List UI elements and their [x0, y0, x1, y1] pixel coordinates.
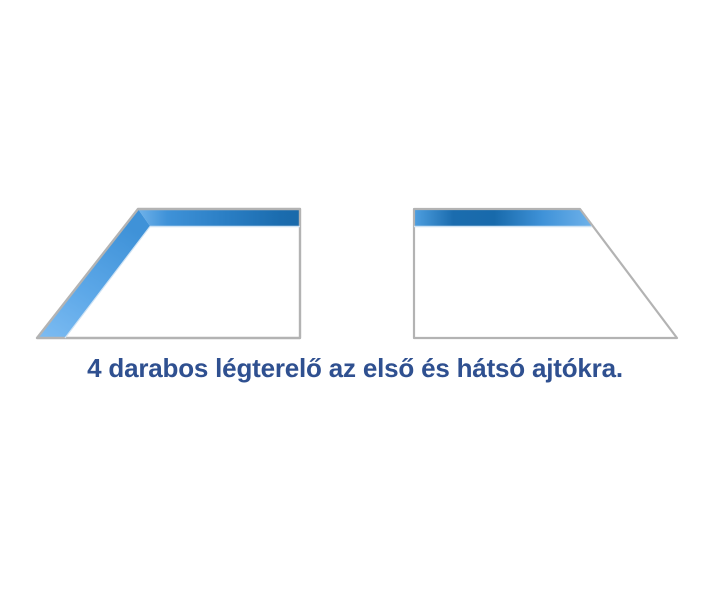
rear-door-deflector-top-band [414, 209, 593, 226]
deflector-illustration-svg [0, 0, 710, 350]
rear-door-deflector-shape [414, 209, 677, 338]
front-door-deflector-top-band [138, 209, 300, 226]
product-illustration-page: 4 darabos légterelő az első és hátsó ajt… [0, 0, 710, 613]
rear-door-deflector-body [414, 209, 677, 338]
product-caption-text: 4 darabos légterelő az első és hátsó ajt… [87, 352, 623, 384]
illustration-container [0, 0, 710, 350]
front-door-deflector-shape [37, 209, 300, 338]
caption-container: 4 darabos légterelő az első és hátsó ajt… [0, 352, 710, 384]
